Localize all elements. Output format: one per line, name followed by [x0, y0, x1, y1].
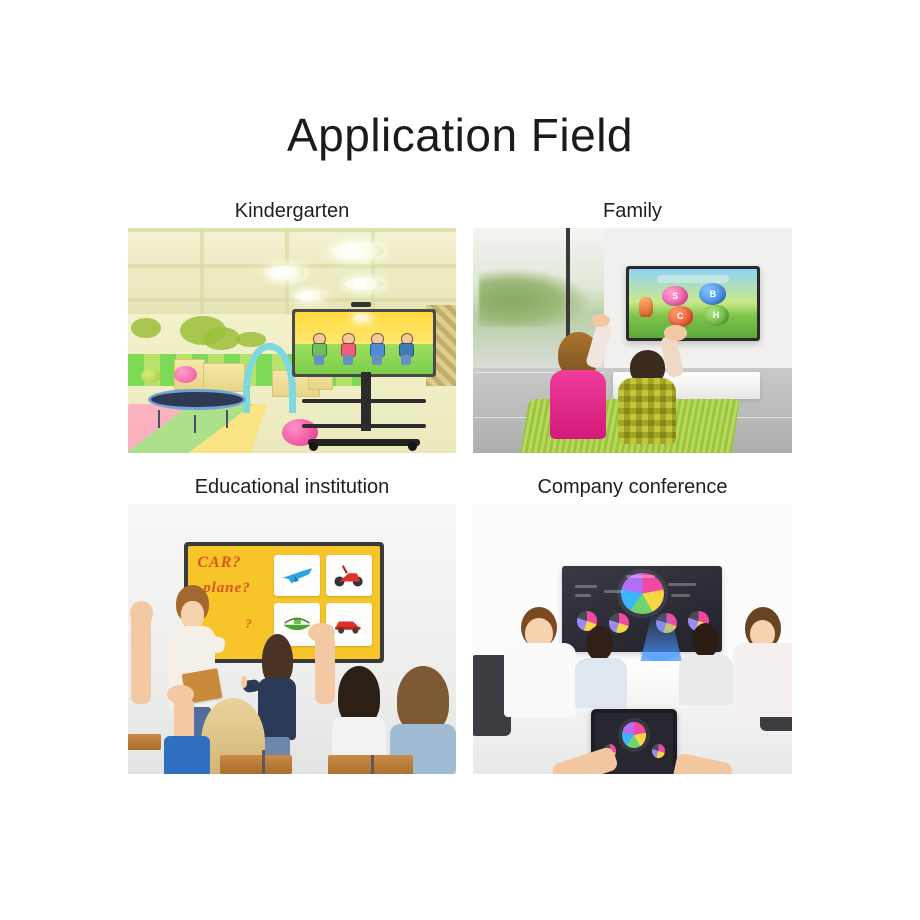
- cartoon-child-legs: [314, 355, 324, 365]
- conference-room-scene: [473, 504, 792, 774]
- photo-family: S B C H: [473, 228, 792, 453]
- whiteboard-screen: [295, 312, 433, 374]
- ceiling-light: [295, 291, 325, 301]
- raised-hand: [315, 634, 335, 704]
- tablet-pie-chart-small: [652, 744, 665, 758]
- board-camera-icon: [351, 302, 371, 307]
- letter-bubble-c: C: [668, 306, 694, 326]
- interactive-whiteboard[interactable]: [292, 309, 436, 377]
- ceiling-beam: [371, 228, 375, 318]
- letter-bubble-b: B: [699, 283, 726, 305]
- chair-leg: [371, 755, 374, 774]
- hand: [308, 623, 334, 642]
- chair-leg: [262, 750, 265, 774]
- hair: [397, 666, 449, 733]
- hair: [692, 623, 720, 659]
- card-label-family: Family: [473, 196, 792, 228]
- application-card-company-conference[interactable]: Company conference: [473, 472, 792, 774]
- board-text-extra: ?: [245, 616, 253, 632]
- picture-card-scooter[interactable]: [326, 555, 372, 596]
- photo-kindergarten: [128, 228, 456, 453]
- chart-caption: [671, 594, 690, 597]
- board-stand-wheel: [309, 442, 318, 451]
- ceiling-beam: [128, 228, 456, 232]
- ceiling-light: [331, 242, 383, 260]
- letter-bubble-s: S: [662, 286, 688, 306]
- scooter-icon: [332, 561, 365, 590]
- board-sun-graphic: [353, 314, 371, 322]
- card-label-educational-institution: Educational institution: [128, 472, 456, 504]
- picture-card-plane[interactable]: [274, 555, 320, 596]
- application-cards-grid: Kindergarten: [128, 196, 792, 786]
- shirt: [679, 655, 733, 705]
- tablet-pie-chart-main: [622, 722, 645, 748]
- hand: [591, 314, 610, 328]
- ceiling-light: [266, 266, 305, 280]
- face: [181, 601, 204, 629]
- letter-bubble-h: H: [703, 305, 729, 326]
- trampoline-leg: [194, 415, 196, 433]
- kindergarten-scene: [128, 228, 456, 453]
- ceiling-light: [344, 278, 383, 290]
- family-living-room-scene: S B C H: [473, 228, 792, 453]
- pie-chart-main: [621, 573, 664, 614]
- cartoon-child-legs: [372, 355, 382, 365]
- garden-greenery: [479, 269, 587, 328]
- board-stand-shelf: [302, 424, 427, 428]
- checkered-shirt: [618, 378, 676, 444]
- chart-caption: [575, 585, 597, 588]
- toy-shelf: [203, 363, 244, 392]
- hand: [130, 601, 153, 625]
- card-label-kindergarten: Kindergarten: [128, 196, 456, 228]
- cartoon-child-legs: [343, 355, 353, 365]
- school-desk: [220, 755, 292, 774]
- hair: [586, 626, 613, 662]
- chart-caption: [626, 575, 655, 578]
- chart-caption: [604, 590, 623, 593]
- wall-decal-tree: [203, 327, 239, 350]
- person-right-front: [738, 607, 792, 715]
- trampoline-leg: [158, 410, 160, 428]
- trampoline: [148, 389, 246, 411]
- wall-decal-tree: [131, 318, 161, 338]
- photo-educational-institution: CAR? plane?: [128, 504, 456, 774]
- application-card-educational-institution[interactable]: Educational institution CAR? plane?: [128, 472, 456, 774]
- raised-hand: [131, 612, 151, 704]
- card-label-company-conference: Company conference: [473, 472, 792, 504]
- application-field-page: Application Field Kindergarten: [0, 0, 920, 920]
- chart-caption: [668, 583, 697, 586]
- cartoon-child-legs: [401, 355, 411, 365]
- trampoline-leg: [226, 410, 228, 428]
- person-left-front: [508, 607, 572, 715]
- pink-top: [550, 370, 606, 439]
- person-right-back: [684, 623, 729, 704]
- school-desk: [128, 734, 161, 750]
- ceiling-beam: [128, 298, 456, 302]
- car-icon: [332, 609, 365, 640]
- application-card-kindergarten[interactable]: Kindergarten: [128, 196, 456, 453]
- board-text-car: CAR?: [197, 554, 241, 572]
- tv-title-band: [657, 275, 729, 283]
- hand: [664, 325, 686, 341]
- person-left-back: [578, 626, 623, 707]
- hand: [167, 685, 193, 704]
- ceiling-beam: [200, 228, 204, 318]
- person-child-braided: [331, 666, 387, 769]
- tv-character: [639, 297, 653, 317]
- white-shirt: [504, 643, 575, 716]
- light-blue-shirt: [575, 658, 627, 708]
- blouse: [733, 643, 792, 716]
- plane-icon: [280, 560, 315, 591]
- chart-caption: [575, 594, 591, 597]
- board-stand-wheel: [408, 442, 417, 451]
- tv-screen: S B C H: [629, 269, 757, 337]
- photo-company-conference: [473, 504, 792, 774]
- classroom-scene: CAR? plane?: [128, 504, 456, 774]
- application-card-family[interactable]: Family S B C: [473, 196, 792, 453]
- board-stand-shelf: [302, 399, 427, 403]
- page-title: Application Field: [0, 108, 920, 162]
- blue-shirt: [164, 736, 210, 774]
- board-stand-base: [308, 439, 420, 446]
- wall-mounted-tv[interactable]: S B C H: [626, 266, 760, 340]
- play-ball: [141, 369, 161, 384]
